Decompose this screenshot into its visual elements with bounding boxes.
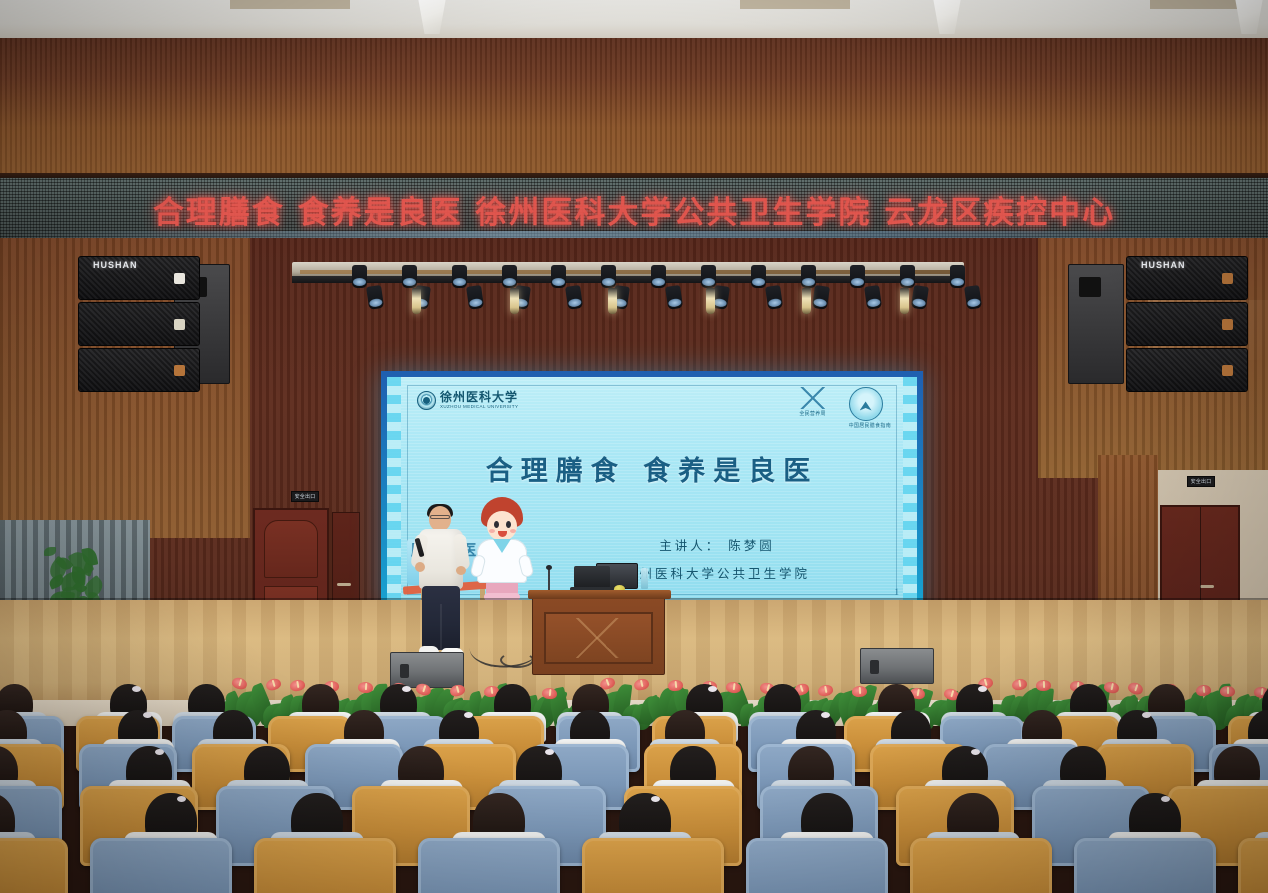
- speaker-indicator: [174, 319, 185, 330]
- upper-wood-wall: [0, 38, 1268, 183]
- university-logo: 徐州医科大学 XUZHOU MEDICAL UNIVERSITY: [417, 391, 518, 410]
- anthurium-flower: [449, 683, 466, 698]
- presenter-hand-left: [415, 562, 425, 572]
- podium-top-surface: [528, 590, 671, 599]
- health-emblem-icon: [849, 387, 883, 421]
- stage-spotlight: [701, 265, 716, 288]
- ceiling-strip: [740, 0, 850, 9]
- exit-sign-right: 安全出口: [1187, 476, 1215, 487]
- auditorium-scene: 合理膳食 食养是良医 徐州医科大学公共卫生学院 云龙区疾控中心 HUSHAN: [0, 0, 1268, 893]
- stage-spotlight: [551, 265, 566, 288]
- stage-lamp: [900, 288, 909, 314]
- speaker-bracket-right: [1068, 264, 1124, 384]
- line-array-speaker-left: HUSHAN: [78, 256, 200, 394]
- speaker-brand-label: HUSHAN: [1141, 260, 1186, 270]
- line-array-speaker-right: HUSHAN: [1126, 256, 1248, 394]
- ceiling-downlight: [930, 0, 964, 34]
- cartoon-doctor-illustration: [473, 497, 531, 603]
- exit-sign-left: 安全出口: [291, 491, 319, 502]
- hair-tie: [155, 749, 164, 755]
- stage-spotlight: [466, 285, 484, 310]
- nutrition-week-logo: 全民营养周: [791, 387, 835, 418]
- desk-microphone: [548, 568, 550, 590]
- plant-leaf: [44, 547, 56, 556]
- podium-desk: [532, 595, 665, 675]
- anthurium-flower: [1220, 686, 1235, 697]
- presenter-hand-right: [456, 566, 466, 575]
- stage-spotlight: [452, 265, 467, 288]
- university-seal-icon: [417, 391, 436, 410]
- stage-spotlight: [900, 265, 915, 288]
- speaker-indicator: [174, 273, 185, 284]
- stage-spotlight: [850, 265, 865, 288]
- floor-cable-loop: [500, 652, 534, 668]
- podium-laptop: [574, 566, 610, 588]
- cartoon-cheek-left: [489, 529, 495, 533]
- hair-tie: [1142, 712, 1151, 718]
- exit-sign-left-text: 安全出口: [295, 493, 316, 500]
- led-banner-text: 合理膳食 食养是良医 徐州医科大学公共卫生学院 云龙区疾控中心: [153, 187, 1115, 232]
- slide-page-number: 1: [895, 587, 900, 597]
- presenter-glasses: [430, 515, 450, 519]
- stage-lamp: [802, 288, 811, 314]
- anthurium-flower: [1011, 678, 1028, 691]
- anthurium-flower: [265, 677, 283, 692]
- auditorium-seat[interactable]: [1238, 838, 1268, 893]
- hair-tie: [821, 712, 830, 718]
- stage-spotlight: [402, 265, 417, 288]
- speaker-indicator: [1222, 273, 1233, 284]
- podium-front-panel: [544, 612, 653, 664]
- audience-seating: [0, 700, 1268, 893]
- university-name-en: XUZHOU MEDICAL UNIVERSITY: [440, 405, 518, 410]
- door-handle[interactable]: [337, 583, 351, 586]
- anthurium-flower: [633, 677, 650, 691]
- presenter-person: [411, 506, 473, 664]
- stage-spotlight: [964, 285, 982, 310]
- mountain-pattern-icon: [791, 387, 835, 409]
- slide-title: 合理膳食 食养是良医: [387, 449, 917, 488]
- hair-tie: [971, 749, 980, 755]
- led-banner: 合理膳食 食养是良医 徐州医科大学公共卫生学院 云龙区疾控中心: [0, 178, 1268, 240]
- auditorium-seat[interactable]: [746, 838, 888, 893]
- hair-tie: [545, 749, 554, 755]
- speaker-indicator: [174, 365, 185, 376]
- presenter-trousers: [422, 586, 460, 650]
- stage-spotlight: [811, 285, 829, 310]
- speaker-indicator: [1222, 319, 1233, 330]
- door-panel-upper: [264, 520, 318, 578]
- stage-spotlight: [502, 265, 517, 288]
- stage-spotlight: [601, 265, 616, 288]
- speaker-cabinet: HUSHAN: [78, 256, 200, 300]
- stage-spotlight: [352, 265, 367, 288]
- auditorium-seat[interactable]: [1074, 838, 1216, 893]
- speaker-cabinet: [1126, 348, 1248, 392]
- stage-spotlight: [950, 265, 965, 288]
- auditorium-seat[interactable]: [418, 838, 560, 893]
- cartoon-cheek-right: [510, 529, 516, 533]
- stage-spotlight: [665, 285, 683, 310]
- speaker-cabinet: HUSHAN: [1126, 256, 1248, 300]
- speaker-cabinet: [78, 348, 200, 392]
- nutrition-week-caption: 全民营养周: [791, 411, 835, 418]
- hair-tie: [464, 712, 473, 718]
- health-emblem-caption: 中国居民膳食指南: [849, 423, 891, 430]
- speaker-cabinet: [1126, 302, 1248, 346]
- anthurium-flower: [817, 684, 834, 698]
- stage-lamp: [706, 288, 715, 314]
- auditorium-seat[interactable]: [90, 838, 232, 893]
- ceiling-downlight: [1232, 0, 1266, 34]
- stage-spotlight: [801, 265, 816, 288]
- stage-spotlight: [765, 285, 783, 310]
- exit-sign-right-text: 安全出口: [1191, 478, 1212, 485]
- water-bottle: [641, 568, 648, 589]
- anthurium-flower: [358, 681, 374, 693]
- podium-panel-inlay: [552, 618, 645, 658]
- university-name-cn: 徐州医科大学: [440, 391, 518, 403]
- anthurium-flower: [1036, 680, 1051, 692]
- ceiling-downlight: [415, 0, 449, 34]
- speaker-cabinet: [78, 302, 200, 346]
- stage-lamp: [608, 288, 617, 314]
- cartoon-eye-left: [494, 521, 499, 528]
- door-handle[interactable]: [1200, 585, 1214, 588]
- hair-tie: [143, 712, 152, 718]
- auditorium-seat[interactable]: [582, 838, 724, 893]
- speaker-indicator: [1222, 365, 1233, 376]
- speaker-brand-label: HUSHAN: [93, 260, 138, 270]
- stage-spotlight: [366, 285, 384, 310]
- stage-lamp: [510, 288, 519, 314]
- anthurium-flower: [289, 679, 306, 692]
- cartoon-eye-right: [506, 521, 511, 528]
- stage-lamp: [412, 288, 421, 314]
- speaker-vent: [1079, 277, 1101, 297]
- health-emblem-logo: 中国居民膳食指南: [849, 387, 891, 430]
- auditorium-seat[interactable]: [254, 838, 396, 893]
- ceiling-strip: [230, 0, 350, 9]
- auditorium-seat[interactable]: [0, 838, 68, 893]
- slide-partner-logos: 全民营养周 中国居民膳食指南: [791, 387, 891, 430]
- anthurium-flower: [1127, 681, 1145, 696]
- auditorium-seat[interactable]: [910, 838, 1052, 893]
- ceiling: [0, 0, 1268, 40]
- stage-spotlight: [651, 265, 666, 288]
- stage-spotlight: [751, 265, 766, 288]
- anthurium-flower: [231, 676, 248, 691]
